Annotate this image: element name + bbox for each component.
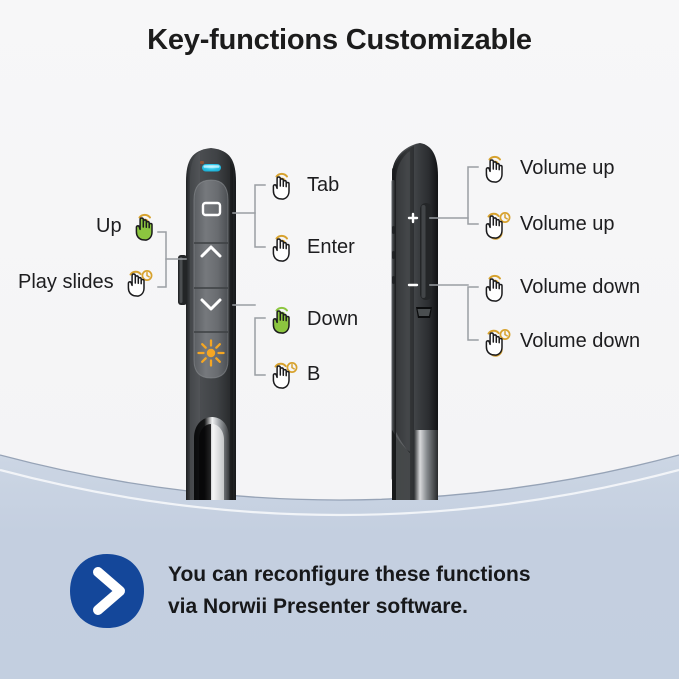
callout-enter: Enter: [266, 229, 355, 265]
callout-enter-label: Enter: [307, 236, 355, 259]
long-press-hand-icon: [479, 323, 513, 359]
banner-line-2: via Norwii Presenter software.: [168, 591, 531, 623]
callout-volume-up-hold: Volume up: [479, 206, 615, 242]
callout-volume-down-hold-label: Volume down: [520, 330, 640, 353]
callout-volume-up-hold-label: Volume up: [520, 213, 615, 236]
callout-volume-down-hold: Volume down: [479, 323, 640, 359]
callout-up: Up: [96, 208, 163, 244]
callout-b-label: B: [307, 363, 320, 386]
tap-hand-icon: [479, 269, 513, 305]
callout-up-label: Up: [96, 215, 122, 238]
long-press-hand-icon: [266, 356, 300, 392]
callout-b: B: [266, 356, 320, 392]
callout-volume-down-tap-label: Volume down: [520, 276, 640, 299]
long-press-hand-icon: [121, 264, 155, 300]
callout-volume-up-tap: Volume up: [479, 150, 615, 186]
tap-hand-green-icon: [129, 208, 163, 244]
callout-volume-down-tap: Volume down: [479, 269, 640, 305]
callout-play-slides-label: Play slides: [18, 271, 114, 294]
tap-hand-icon: [266, 167, 300, 203]
callout-play-slides: Play slides: [18, 264, 155, 300]
page-title: Key-functions Customizable: [0, 24, 679, 57]
long-press-hand-icon: [479, 206, 513, 242]
tap-hand-green-icon: [266, 301, 300, 337]
callout-tab: Tab: [266, 167, 339, 203]
banner-line-1: You can reconfigure these functions: [168, 559, 531, 591]
info-banner: You can reconfigure these functions via …: [68, 552, 531, 630]
tap-hand-icon: [266, 229, 300, 265]
callout-down-label: Down: [307, 308, 358, 331]
tap-hand-icon: [479, 150, 513, 186]
chevron-right-icon: [68, 552, 146, 630]
callout-volume-up-tap-label: Volume up: [520, 157, 615, 180]
callout-down: Down: [266, 301, 358, 337]
callout-tab-label: Tab: [307, 174, 339, 197]
